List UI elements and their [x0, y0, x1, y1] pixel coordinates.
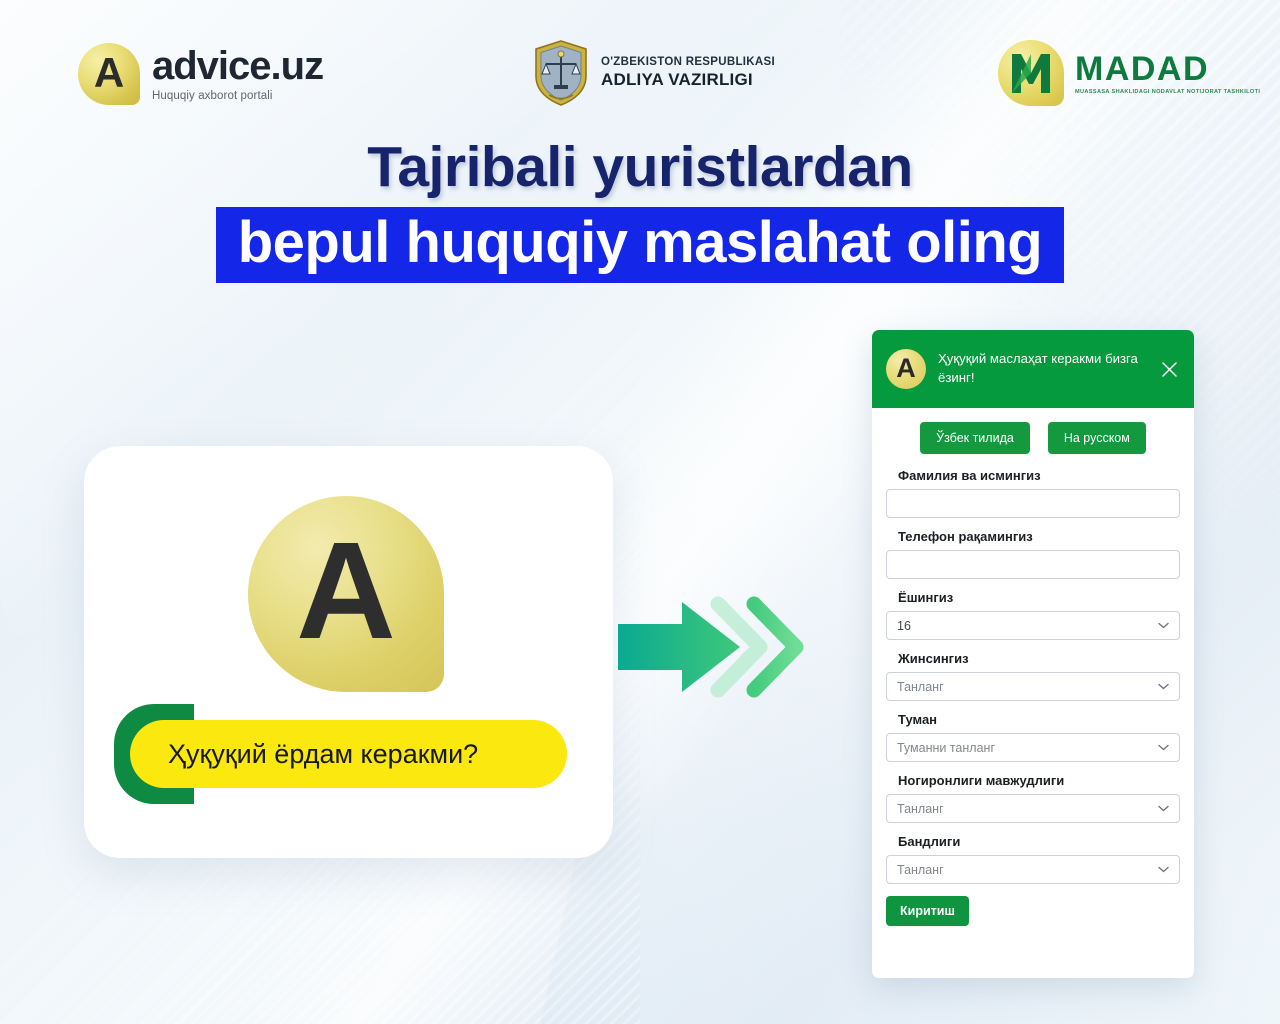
select-gender[interactable]: Танланг	[886, 672, 1180, 701]
select-age[interactable]: 16	[886, 611, 1180, 640]
logo-row: A advice.uz Huquqiy axborot portali O'ZB…	[0, 38, 1280, 118]
widget-header: A Ҳуқуқий маслаҳат керакми бизга ёзинг!	[872, 330, 1194, 408]
select-gender-value: Танланг	[897, 680, 1152, 694]
madad-logo-name: MADAD	[1075, 52, 1260, 86]
ministry-crest-icon	[533, 40, 589, 106]
select-disability-value: Танланг	[897, 802, 1152, 816]
advice-logo-tagline: Huquqiy axborot portali	[152, 90, 323, 102]
headline-line-1: Tajribali yuristlardan	[0, 138, 1280, 198]
select-district-value: Туманни танланг	[897, 741, 1152, 755]
label-phone: Телефон рақамингиз	[898, 529, 1180, 544]
widget-body: Ўзбек тилида На русском Фамилия ва исмин…	[872, 408, 1194, 978]
headline: Tajribali yuristlardan bepul huquqiy mas…	[0, 138, 1280, 283]
lang-button-ru[interactable]: На русском	[1048, 422, 1146, 454]
chevron-down-icon	[1158, 744, 1169, 751]
chevron-down-icon	[1158, 866, 1169, 873]
headline-highlight-wrap: bepul huquqiy maslahat oling	[0, 207, 1280, 283]
ministry-line2: ADLIYA VAZIRLIGI	[601, 70, 775, 90]
madad-logo-text: MADAD MUASSASA SHAKLIDAGI NODAVLAT NOTIJ…	[1075, 52, 1260, 95]
select-employment[interactable]: Танланг	[886, 855, 1180, 884]
madad-logo: MADAD MUASSASA SHAKLIDAGI NODAVLAT NOTIJ…	[998, 40, 1260, 106]
ministry-line1: O'ZBEKISTON RESPUBLIKASI	[601, 56, 775, 68]
submit-button[interactable]: Киритиш	[886, 896, 969, 926]
ministry-logo: O'ZBEKISTON RESPUBLIKASI ADLIYA VAZIRLIG…	[533, 40, 775, 106]
widget-title: Ҳуқуқий маслаҳат керакми бизга ёзинг!	[938, 350, 1156, 387]
select-district[interactable]: Туманни танланг	[886, 733, 1180, 762]
advice-logo: A advice.uz Huquqiy axborot portali	[78, 43, 323, 105]
language-switcher: Ўзбек тилида На русском	[886, 422, 1180, 454]
lang-button-uz[interactable]: Ўзбек тилида	[920, 422, 1030, 454]
advice-logo-icon: A	[78, 43, 140, 105]
label-full-name: Фамилия ва исмингиз	[898, 468, 1180, 483]
ministry-logo-text: O'ZBEKISTON RESPUBLIKASI ADLIYA VAZIRLIG…	[601, 56, 775, 90]
label-age: Ёшингиз	[898, 590, 1180, 605]
illustration-card: A Ҳуқуқий ёрдам керакми?	[84, 446, 613, 858]
madad-logo-tagline: MUASSASA SHAKLIDAGI NODAVLAT NOTIJORAT T…	[1075, 89, 1260, 95]
arrow-right-icon	[618, 592, 848, 702]
advice-logo-text: advice.uz Huquqiy axborot portali	[152, 46, 323, 102]
advice-avatar-letter: A	[296, 522, 396, 660]
advice-logo-name: advice.uz	[152, 46, 323, 86]
chat-bubble-text: Ҳуқуқий ёрдам керакми?	[168, 739, 478, 770]
chevron-down-icon	[1158, 622, 1169, 629]
chevron-down-icon	[1158, 683, 1169, 690]
consultation-widget: A Ҳуқуқий маслаҳат керакми бизга ёзинг! …	[872, 330, 1194, 978]
headline-line-2: bepul huquqiy maslahat oling	[216, 207, 1065, 283]
select-employment-value: Танланг	[897, 863, 1152, 877]
label-gender: Жинсингиз	[898, 651, 1180, 666]
advice-logo-letter: A	[94, 52, 124, 94]
close-icon[interactable]	[1156, 356, 1182, 382]
label-disability: Ногиронлиги мавжудлиги	[898, 773, 1180, 788]
input-full-name[interactable]	[886, 489, 1180, 518]
madad-logo-icon	[998, 40, 1064, 106]
poster-canvas: A advice.uz Huquqiy axborot portali O'ZB…	[0, 0, 1280, 1024]
select-age-value: 16	[897, 619, 1152, 633]
widget-avatar-letter: A	[896, 355, 916, 382]
chevron-down-icon	[1158, 805, 1169, 812]
widget-avatar-icon: A	[886, 349, 926, 389]
label-district: Туман	[898, 712, 1180, 727]
input-phone[interactable]	[886, 550, 1180, 579]
select-disability[interactable]: Танланг	[886, 794, 1180, 823]
chat-bubble: Ҳуқуқий ёрдам керакми?	[130, 720, 567, 788]
advice-avatar-icon: A	[248, 496, 444, 692]
label-employment: Бандлиги	[898, 834, 1180, 849]
